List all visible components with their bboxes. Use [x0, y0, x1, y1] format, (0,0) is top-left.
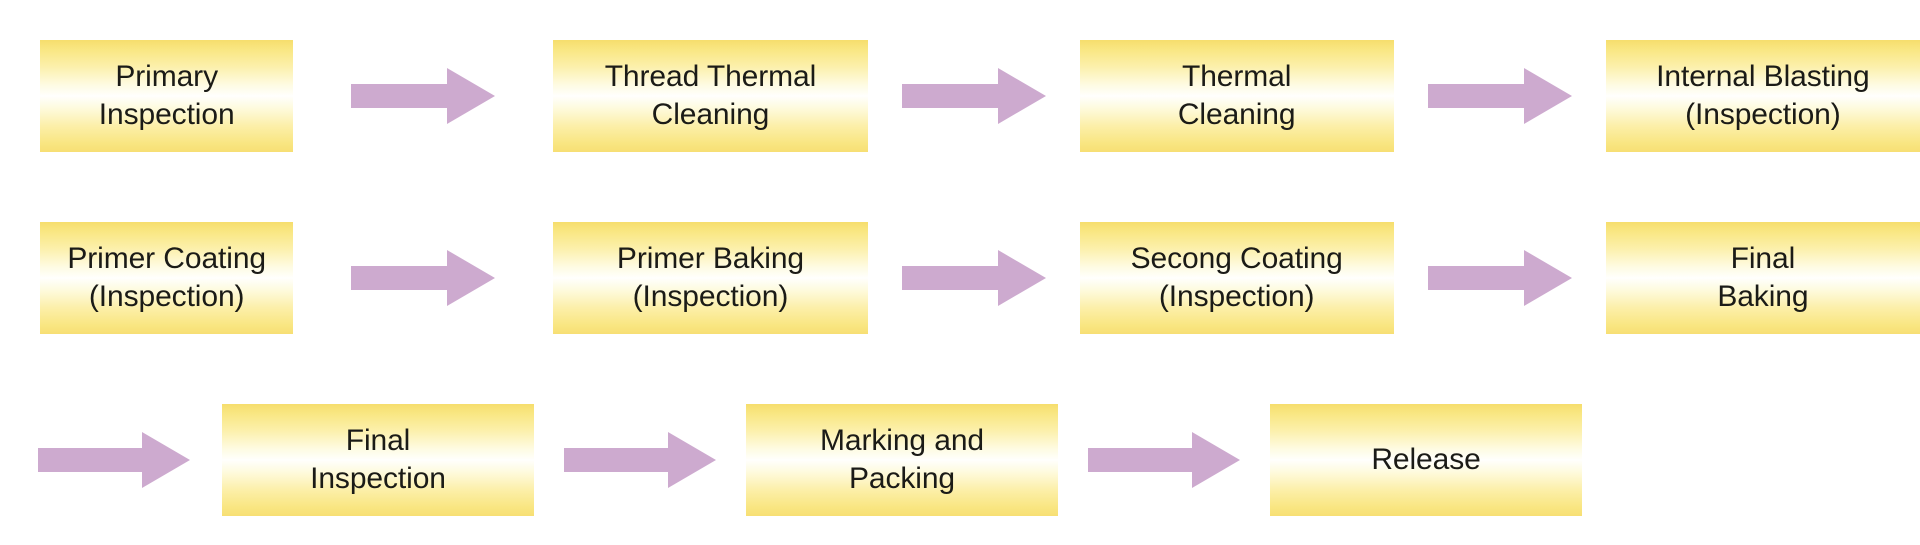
process-node-secong-coating[interactable]: Secong Coating (Inspection) — [1080, 222, 1394, 334]
process-node-primer-baking[interactable]: Primer Baking (Inspection) — [553, 222, 867, 334]
node-label: Release — [1361, 441, 1490, 479]
process-node-thermal-cleaning[interactable]: Thermal Cleaning — [1080, 40, 1394, 152]
right-block-arrow-icon — [38, 404, 190, 516]
process-flow-diagram: Primary Inspection Thread Thermal Cleani… — [0, 0, 1920, 545]
right-block-arrow-icon — [1428, 40, 1572, 152]
right-block-arrow-icon — [902, 222, 1046, 334]
right-block-arrow-icon — [1428, 222, 1572, 334]
flow-row-2: Primer Coating (Inspection) Primer Bakin… — [0, 222, 1920, 334]
right-block-arrow-icon — [1088, 404, 1240, 516]
flow-row-1: Primary Inspection Thread Thermal Cleani… — [0, 40, 1920, 152]
right-block-arrow-icon — [902, 40, 1046, 152]
process-node-final-baking[interactable]: Final Baking — [1606, 222, 1920, 334]
node-label: Final Baking — [1707, 240, 1818, 317]
right-block-arrow-icon — [351, 222, 495, 334]
node-label: Primer Coating (Inspection) — [57, 240, 276, 317]
process-node-release[interactable]: Release — [1270, 404, 1582, 516]
process-node-marking-packing[interactable]: Marking and Packing — [746, 404, 1058, 516]
process-node-thread-thermal-cleaning[interactable]: Thread Thermal Cleaning — [553, 40, 867, 152]
process-node-primary-inspection[interactable]: Primary Inspection — [40, 40, 293, 152]
right-block-arrow-icon — [351, 40, 495, 152]
process-node-internal-blasting[interactable]: Internal Blasting (Inspection) — [1606, 40, 1920, 152]
flow-row-3: Final Inspection Marking and Packing Rel… — [0, 404, 1920, 516]
node-label: Thread Thermal Cleaning — [595, 58, 826, 135]
node-label: Primer Baking (Inspection) — [607, 240, 814, 317]
node-label: Thermal Cleaning — [1168, 58, 1306, 135]
node-label: Primary Inspection — [89, 58, 245, 135]
node-label: Secong Coating (Inspection) — [1121, 240, 1353, 317]
node-label: Final Inspection — [300, 422, 456, 499]
right-block-arrow-icon — [564, 404, 716, 516]
process-node-primer-coating[interactable]: Primer Coating (Inspection) — [40, 222, 293, 334]
node-label: Marking and Packing — [810, 422, 994, 499]
node-label: Internal Blasting (Inspection) — [1646, 58, 1879, 135]
process-node-final-inspection[interactable]: Final Inspection — [222, 404, 534, 516]
